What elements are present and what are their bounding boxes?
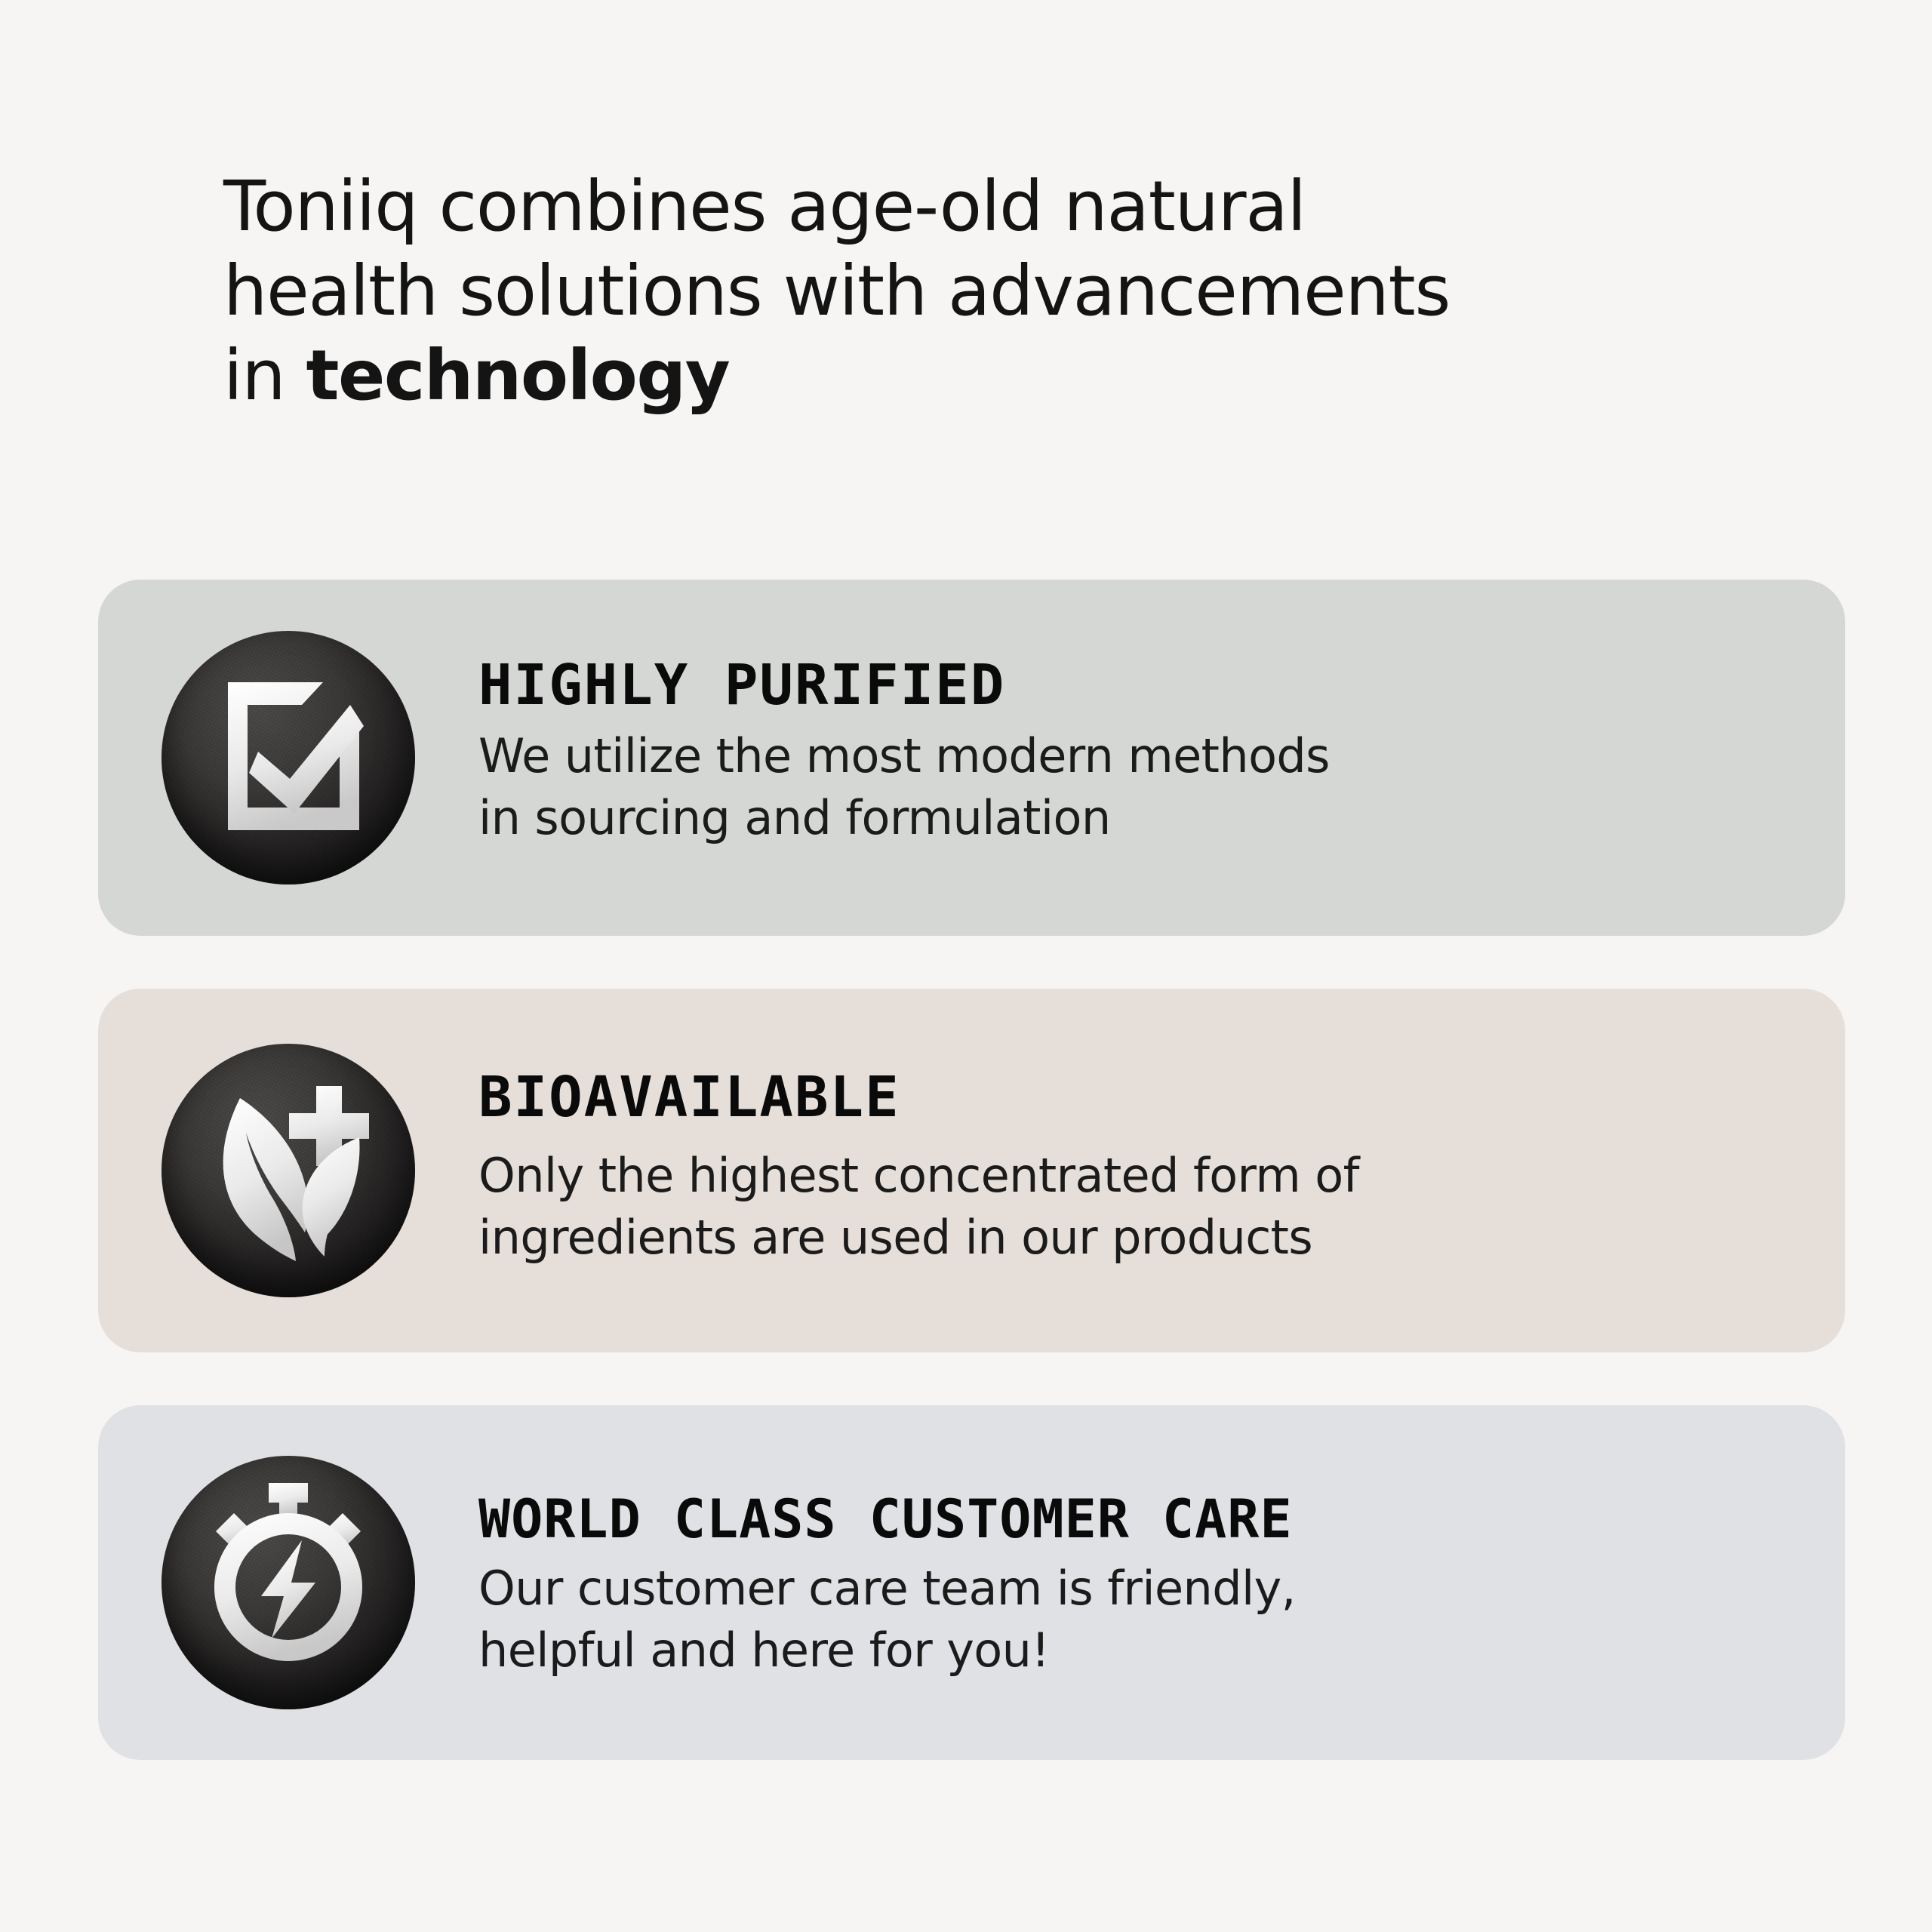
stopwatch-bolt-icon bbox=[162, 1456, 415, 1709]
feature-card-body-line-2: in sourcing and formulation bbox=[478, 787, 1800, 849]
page-title-line-3: in technology bbox=[223, 334, 1733, 418]
feature-card-title: HIGHLY PURIFIED bbox=[478, 657, 1800, 713]
feature-card-body: Our customer care team is friendly, help… bbox=[478, 1558, 1800, 1682]
page-title-line-3-prefix: in bbox=[223, 335, 306, 416]
page-title-line-2: health solutions with advancements bbox=[223, 249, 1733, 334]
leaf-plus-glyph bbox=[162, 1044, 415, 1297]
feature-card-title: WORLD CLASS CUSTOMER CARE bbox=[478, 1493, 1800, 1546]
feature-card-text: BIOAVAILABLE Only the highest concentrat… bbox=[478, 1069, 1845, 1269]
infographic-page: Toniiq combines age-old natural health s… bbox=[0, 0, 1932, 1932]
feature-card-title: BIOAVAILABLE bbox=[478, 1069, 1800, 1125]
feature-card-body: Only the highest concentrated form of in… bbox=[478, 1145, 1800, 1269]
feature-card-world-class-customer-care[interactable]: WORLD CLASS CUSTOMER CARE Our customer c… bbox=[98, 1405, 1845, 1760]
leaf-plus-icon bbox=[162, 1044, 415, 1297]
feature-card-list: HIGHLY PURIFIED We utilize the most mode… bbox=[98, 580, 1845, 1760]
stopwatch-bolt-glyph bbox=[162, 1456, 415, 1709]
feature-card-text: WORLD CLASS CUSTOMER CARE Our customer c… bbox=[478, 1493, 1845, 1682]
feature-card-body-line-2: helpful and here for you! bbox=[478, 1620, 1800, 1681]
page-title: Toniiq combines age-old natural health s… bbox=[223, 165, 1733, 419]
feature-card-body-line-1: We utilize the most modern methods bbox=[478, 725, 1800, 787]
feature-card-body: We utilize the most modern methods in so… bbox=[478, 725, 1800, 850]
checkbox-check-icon bbox=[162, 631, 415, 884]
feature-card-body-line-1: Only the highest concentrated form of bbox=[478, 1145, 1800, 1207]
page-title-line-1: Toniiq combines age-old natural bbox=[223, 165, 1733, 249]
feature-card-bioavailable[interactable]: BIOAVAILABLE Only the highest concentrat… bbox=[98, 989, 1845, 1352]
feature-card-text: HIGHLY PURIFIED We utilize the most mode… bbox=[478, 657, 1845, 850]
feature-card-body-line-1: Our customer care team is friendly, bbox=[478, 1558, 1800, 1620]
checkbox-check-glyph bbox=[162, 631, 415, 884]
feature-card-body-line-2: ingredients are used in our products bbox=[478, 1207, 1800, 1269]
feature-card-highly-purified[interactable]: HIGHLY PURIFIED We utilize the most mode… bbox=[98, 580, 1845, 936]
page-title-emphasis: technology bbox=[306, 335, 730, 416]
